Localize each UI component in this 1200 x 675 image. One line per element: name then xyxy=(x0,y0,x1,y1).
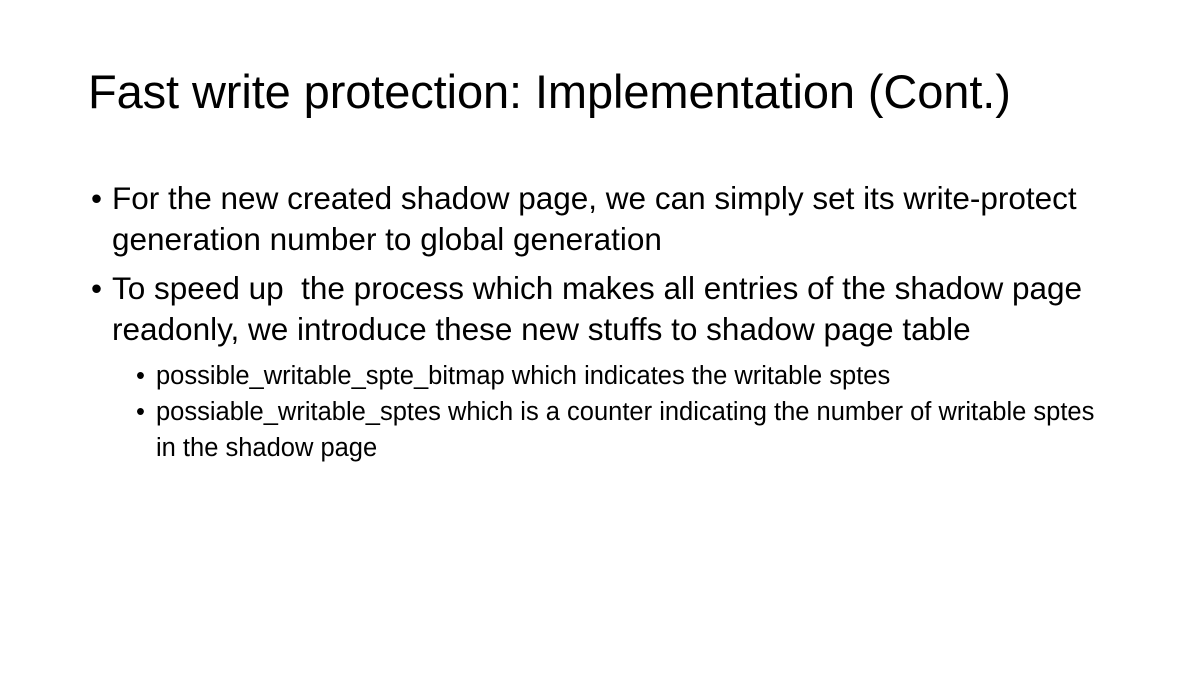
sub-bullet-text: possible_writable_spte_bitmap which indi… xyxy=(156,358,1108,394)
bullet-dot-icon: • xyxy=(136,394,145,430)
bullet-list-level1: • For the new created shadow page, we ca… xyxy=(88,178,1108,466)
sub-bullet-item: • possiable_writable_sptes which is a co… xyxy=(134,394,1108,466)
bullet-dot-icon: • xyxy=(91,178,102,219)
bullet-item: • To speed up the process which makes al… xyxy=(88,268,1108,350)
sub-bullet-text: possiable_writable_sptes which is a coun… xyxy=(156,394,1108,466)
bullet-text: For the new created shadow page, we can … xyxy=(112,178,1108,260)
bullet-item: • For the new created shadow page, we ca… xyxy=(88,178,1108,260)
sub-bullet-item: • possible_writable_spte_bitmap which in… xyxy=(134,358,1108,394)
slide-title: Fast write protection: Implementation (C… xyxy=(88,66,1112,119)
bullet-text: To speed up the process which makes all … xyxy=(112,268,1108,350)
bullet-list-level2: • possible_writable_spte_bitmap which in… xyxy=(88,358,1108,466)
bullet-dot-icon: • xyxy=(91,268,102,309)
bullet-dot-icon: • xyxy=(136,358,145,394)
presentation-slide: Fast write protection: Implementation (C… xyxy=(0,0,1200,675)
slide-body: • For the new created shadow page, we ca… xyxy=(88,178,1108,466)
